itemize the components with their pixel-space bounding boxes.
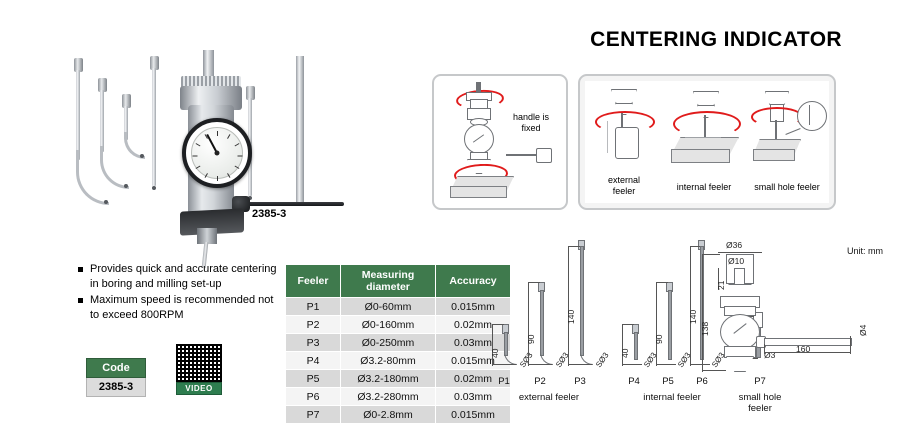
product-code-label: 2385-3 [252,208,286,220]
cell-measuring-diameter: Ø3.2-80mm [341,352,436,370]
small-hole-feeler-illustration: small hole feeler [745,81,829,203]
cell-feeler: P1 [286,298,341,316]
handle-fixed-illustration: handle is fixed [432,74,568,210]
feeler-id-p3: P3 [566,376,594,387]
table-row: P7Ø0-2.8mm0.015mm [286,406,511,424]
table-row: P4Ø3.2-80mm0.015mm [286,352,511,370]
group-label-external: external feeler [494,392,604,403]
group-label-internal: internal feeler [622,392,722,403]
feeler-types-illustration: external feeler internal feeler small ho… [578,74,836,210]
feeler-id-p7: P7 [746,376,774,387]
external-feeler-label: external feeler [585,175,663,197]
feature-item: Maximum speed is recommended not to exce… [78,293,283,322]
feeler-id-p1: P1 [490,376,518,387]
code-badge-header: Code [86,358,146,378]
cell-measuring-diameter: Ø3.2-180mm [341,370,436,388]
internal-feeler-label: internal feeler [663,182,745,193]
feature-item: Provides quick and accurate centering in… [78,262,283,291]
dim-stem-diameter: Ø10 [728,256,744,266]
specification-table: Feeler Measuring diameter Accuracy P1Ø0-… [285,264,511,424]
cell-measuring-diameter: Ø0-250mm [341,334,436,352]
mounting-post [296,56,304,206]
dimension-drawings: Unit: mm 40 SØ3 P1 90 SØ3 P2 140 SØ3 P3 … [480,240,895,430]
group-label-small-hole: small hole feeler [730,392,790,414]
cell-measuring-diameter: Ø3.2-280mm [341,388,436,406]
dim-stem-height: 21 [716,281,726,290]
feeler-id-p2: P2 [526,376,554,387]
table-row: P6Ø3.2-280mm0.03mm [286,388,511,406]
external-feeler-illustration: external feeler [585,81,664,203]
dim-arm-diameter: Ø4 [858,325,868,336]
video-label[interactable]: VIDEO [176,382,222,395]
feeler-id-p6: P6 [688,376,716,387]
cell-measuring-diameter: Ø0-160mm [341,316,436,334]
handle-callout-line1: handle is [502,112,560,123]
cell-feeler: P7 [286,406,341,424]
cell-feeler: P6 [286,388,341,406]
code-badge: Code 2385-3 [86,358,146,397]
table-row: P1Ø0-60mm0.015mm [286,298,511,316]
table-row: P2Ø0-160mm0.02mm [286,316,511,334]
cell-feeler: P5 [286,370,341,388]
qr-code-icon[interactable] [176,344,222,382]
cell-feeler: P4 [286,352,341,370]
product-photo [60,50,350,220]
table-row: P3Ø0-250mm0.03mm [286,334,511,352]
qr-video-badge[interactable]: VIDEO [176,344,222,395]
handle-callout-line2: fixed [502,123,560,134]
cell-feeler: P2 [286,316,341,334]
dial-face [182,118,252,188]
page-title: CENTERING INDICATOR [590,28,842,52]
unit-note: Unit: mm [847,246,883,256]
internal-feeler-illustration: internal feeler [663,81,746,203]
feeler-id-p5: P5 [654,376,682,387]
dim-total-height: 138 [700,322,710,336]
cell-feeler: P3 [286,334,341,352]
cell-measuring-diameter: Ø0-60mm [341,298,436,316]
handle-fixed-callout: handle is fixed [502,112,560,134]
dim-arm-length: 160 [796,344,810,354]
column-header-feeler: Feeler [286,265,341,298]
small-hole-feeler-label: small hole feeler [745,182,829,193]
column-header-measuring-diameter: Measuring diameter [341,265,436,298]
cell-measuring-diameter: Ø0-2.8mm [341,406,436,424]
table-row: P5Ø3.2-180mm0.02mm [286,370,511,388]
feeler-id-p4: P4 [620,376,648,387]
dim-top-diameter: Ø36 [726,240,742,250]
features-list: Provides quick and accurate centering in… [78,262,283,324]
table-header-row: Feeler Measuring diameter Accuracy [286,265,511,298]
code-badge-value: 2385-3 [86,378,146,397]
